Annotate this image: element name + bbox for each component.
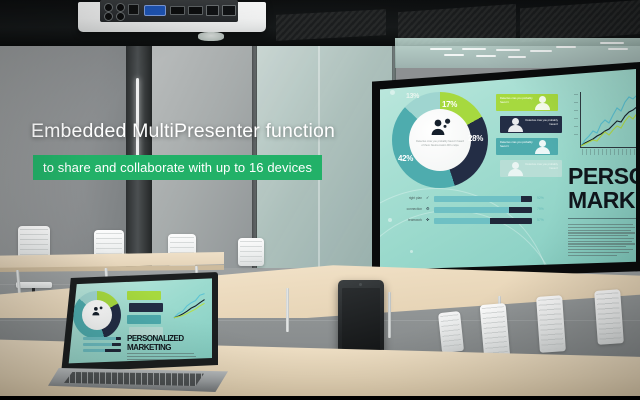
ceiling-light	[462, 48, 486, 50]
headline-text: Embedded MultiPresenter function	[31, 120, 335, 143]
laptop-donut-hole	[82, 300, 112, 330]
ceiling-projector	[78, 0, 270, 40]
person-icon	[508, 125, 523, 132]
display-screen: Detectus cras you probably haven't heard…	[380, 68, 636, 272]
projector-body	[78, 2, 266, 32]
bar-label: connection	[392, 207, 422, 211]
ceiling-acoustic-panel	[520, 0, 640, 42]
bar-marker	[490, 218, 532, 224]
title-rule	[568, 218, 636, 219]
y-axis-ticks	[574, 94, 578, 138]
ceiling-light	[600, 42, 624, 44]
ceiling-light	[530, 50, 552, 52]
donut-label-17: 17%	[442, 100, 457, 109]
ceiling-light	[508, 56, 526, 58]
bar-marker	[521, 196, 532, 202]
person-icon	[429, 118, 453, 136]
laptop-presentation-title-line2: MARKETING	[127, 344, 171, 351]
line-chart	[572, 90, 636, 156]
serial-port-icon	[128, 4, 139, 15]
callout-card: Detectus cras you probably haven't	[496, 138, 558, 155]
ceiling-light	[476, 55, 496, 57]
bar-label: right plan	[392, 196, 422, 200]
projector-io-panel	[100, 0, 238, 22]
donut-label-28: 28%	[468, 134, 483, 143]
callout-text: Detectus cras you probably haven't	[500, 141, 534, 149]
bar-track	[434, 218, 532, 224]
bar-label: teamwork	[392, 218, 422, 222]
decorative-dot	[410, 250, 413, 253]
bar-value: 79%	[537, 207, 544, 211]
conference-room-scene: Detectus cras you probably haven't heard…	[0, 0, 640, 400]
wall-display[interactable]: Detectus cras you probably haven't heard…	[372, 62, 640, 280]
audio-port-icon	[104, 3, 113, 12]
person-icon	[91, 306, 104, 316]
person-icon	[535, 103, 550, 110]
bar-track	[434, 196, 532, 202]
person-icon	[512, 162, 519, 169]
subline-text: to share and collaborate with up to 16 d…	[43, 160, 312, 175]
check-icon: ✓	[426, 195, 429, 200]
person-icon	[539, 140, 546, 147]
decorative-dot	[390, 90, 395, 95]
laptop[interactable]: PERSONALIZED MARKETING	[48, 272, 228, 400]
bar-value: 57%	[537, 218, 544, 222]
callout-card: Detectus cras you probably haven't	[500, 116, 562, 133]
laptop-presentation-title-line1: PERSONALIZED	[127, 335, 184, 342]
usb-port-icon	[222, 5, 236, 16]
tablet-screen	[342, 288, 380, 352]
laptop-callout	[127, 315, 161, 324]
hdmi-port-icon	[188, 6, 203, 15]
ceiling-light	[608, 48, 628, 50]
ceiling-light	[496, 49, 520, 51]
presentation-body-text	[568, 224, 636, 257]
person-icon	[535, 147, 550, 154]
laptop-screen: PERSONALIZED MARKETING	[65, 277, 212, 366]
ceiling-acoustic-panel	[276, 9, 386, 41]
puzzle-icon: ✜	[426, 217, 429, 222]
table-leg	[286, 288, 289, 332]
callout-text: Detectus cras you probably haven't	[524, 163, 558, 171]
donut-label-42: 42%	[398, 154, 413, 163]
bar-marker	[509, 207, 532, 213]
person-icon	[539, 96, 546, 103]
lan-port-icon	[206, 5, 219, 16]
projector-lens	[198, 32, 224, 41]
donut-label-13: 13%	[406, 93, 419, 100]
person-icon	[508, 169, 523, 176]
hdmi-port-icon	[170, 6, 185, 15]
ceiling-light	[430, 48, 452, 50]
vga-port-icon	[144, 5, 166, 16]
audio-port-icon	[116, 3, 125, 12]
bar-track	[434, 207, 532, 213]
person-icon	[512, 118, 519, 125]
callout-text: Detectus cras you probably haven't	[524, 119, 558, 127]
camera-icon	[359, 283, 362, 286]
audio-port-icon	[116, 12, 125, 21]
bar-value: 92%	[537, 196, 544, 200]
callout-text: Detectus cras you probably haven't	[500, 97, 534, 105]
bottom-letterbox	[0, 396, 640, 400]
x-axis-ticks	[582, 149, 636, 155]
ceiling-light	[556, 46, 576, 48]
presentation-title-line2: MARKET	[568, 190, 636, 211]
ceiling-light	[444, 54, 464, 56]
bar-chart: right plan ✓ 92% connection ⚙ 79% teamwo…	[392, 196, 552, 230]
line-chart-series	[572, 90, 636, 156]
subline-banner: to share and collaborate with up to 16 d…	[33, 155, 322, 180]
audio-port-icon	[104, 12, 113, 21]
table-leg	[388, 292, 391, 338]
donut-center-caption: Detectus cras you probably haven't heard…	[415, 140, 465, 148]
callout-card: Detectus cras you probably haven't	[500, 160, 562, 177]
laptop-line-chart	[169, 291, 209, 321]
presentation-title-line1: PERSONA	[568, 166, 636, 187]
gear-icon: ⚙	[426, 206, 430, 211]
callout-card: Detectus cras you probably haven't	[496, 94, 558, 111]
laptop-callout	[127, 291, 161, 300]
donut-hole: Detectus cras you probably haven't heard…	[409, 109, 471, 171]
laptop-callout	[129, 303, 163, 312]
